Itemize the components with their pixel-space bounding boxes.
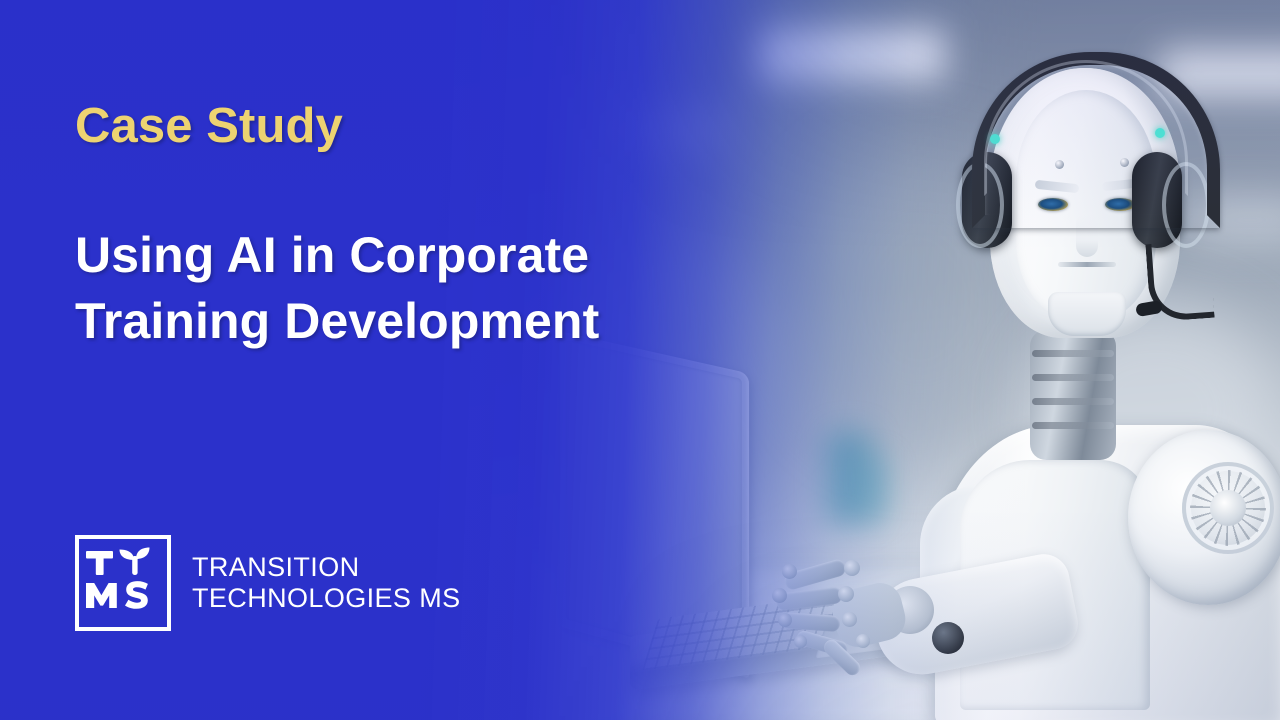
slide-content: Case Study Using AI in Corporate Trainin…	[0, 0, 1280, 720]
page-title: Using AI in Corporate Training Developme…	[75, 222, 599, 354]
kicker-label: Case Study	[75, 98, 343, 154]
tyms-sprout-monogram-icon	[75, 535, 171, 631]
headline-line-1: Using AI in Corporate	[75, 227, 589, 283]
headline-line-2: Training Development	[75, 288, 599, 354]
brand-name-line-2: TECHNOLOGIES MS	[192, 583, 461, 614]
brand-name-line-1: TRANSITION	[192, 552, 461, 583]
brand-name: TRANSITION TECHNOLOGIES MS	[192, 552, 461, 615]
brand-logo-lockup: TRANSITION TECHNOLOGIES MS	[75, 535, 461, 631]
case-study-slide: Case Study Using AI in Corporate Trainin…	[0, 0, 1280, 720]
